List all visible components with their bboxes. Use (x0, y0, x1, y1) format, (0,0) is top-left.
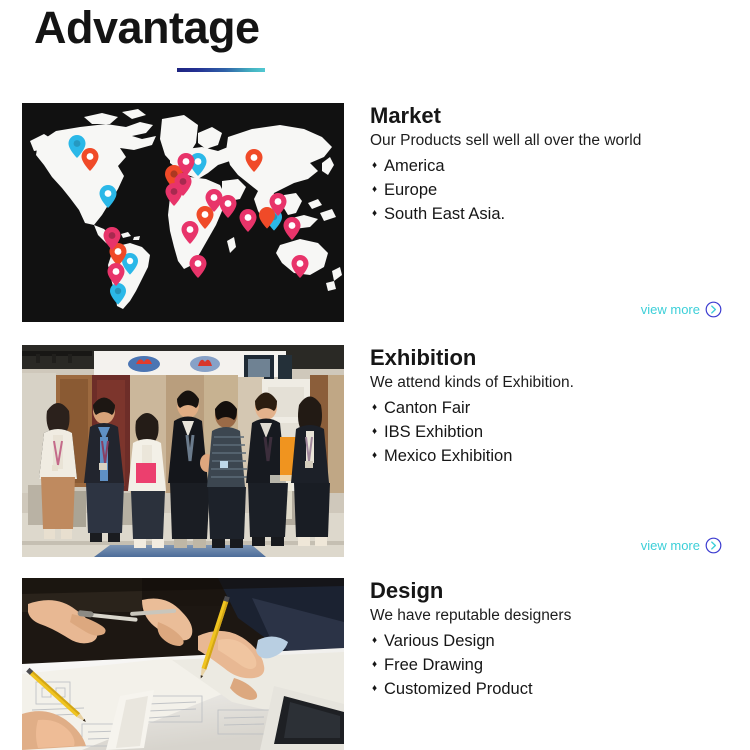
trade-show-photo-svg (22, 345, 344, 557)
diamond-bullet-icon: ♦ (372, 677, 377, 701)
world-map-svg (22, 103, 344, 322)
diamond-bullet-icon: ♦ (372, 154, 377, 178)
list-item-label: Mexico Exhibition (384, 447, 512, 465)
trade-show-photo-graphic (22, 345, 344, 557)
list-item-label: IBS Exhibtion (384, 423, 483, 441)
design-title: Design (370, 578, 750, 603)
market-image (22, 103, 344, 322)
diamond-bullet-icon: ♦ (372, 629, 377, 653)
diamond-bullet-icon: ♦ (372, 202, 377, 226)
exhibition-subtitle: We attend kinds of Exhibition. (370, 372, 750, 394)
list-item: ♦Free Drawing (370, 653, 750, 677)
diamond-bullet-icon: ♦ (372, 444, 377, 468)
chevron-right-circle-icon (705, 537, 722, 554)
market-title: Market (370, 103, 750, 128)
diamond-bullet-icon: ♦ (372, 653, 377, 677)
list-item-label: South East Asia. (384, 205, 505, 223)
page-header: Advantage (0, 0, 750, 100)
list-item-label: Free Drawing (384, 656, 483, 674)
exhibition-bullet-list: ♦Canton Fair ♦IBS Exhibtion ♦Mexico Exhi… (370, 396, 750, 469)
design-subtitle: We have reputable designers (370, 605, 750, 627)
design-content: Design We have reputable designers ♦Vari… (370, 578, 750, 702)
list-item: ♦Europe (370, 178, 750, 202)
list-item: ♦Customized Product (370, 677, 750, 701)
list-item-label: Customized Product (384, 680, 533, 698)
exhibition-title: Exhibition (370, 345, 750, 370)
advantage-row-market: Market Our Products sell well all over t… (0, 103, 750, 345)
design-meeting-photo-graphic (22, 578, 344, 750)
diamond-bullet-icon: ♦ (372, 420, 377, 444)
design-image (22, 578, 344, 750)
market-content: Market Our Products sell well all over t… (370, 103, 750, 227)
list-item: ♦IBS Exhibtion (370, 420, 750, 444)
view-more-label: view more (641, 302, 700, 317)
list-item-label: Various Design (384, 632, 495, 650)
exhibition-image (22, 345, 344, 557)
view-more-link-market[interactable]: view more (641, 301, 722, 318)
world-map-graphic (22, 103, 344, 322)
list-item: ♦America (370, 154, 750, 178)
market-bullet-list: ♦America ♦Europe ♦South East Asia. (370, 154, 750, 227)
title-gradient-underline (177, 68, 265, 72)
list-item-label: Europe (384, 181, 437, 199)
list-item-label: America (384, 157, 445, 175)
diamond-bullet-icon: ♦ (372, 396, 377, 420)
view-more-label: view more (641, 538, 700, 553)
list-item-label: Canton Fair (384, 399, 470, 417)
chevron-right-circle-icon (705, 301, 722, 318)
design-bullet-list: ♦Various Design ♦Free Drawing ♦Customize… (370, 629, 750, 702)
view-more-link-exhibition[interactable]: view more (641, 537, 722, 554)
list-item: ♦South East Asia. (370, 202, 750, 226)
list-item: ♦Mexico Exhibition (370, 444, 750, 468)
design-meeting-photo-svg (22, 578, 344, 750)
page-title: Advantage (34, 2, 260, 54)
market-subtitle: Our Products sell well all over the worl… (370, 130, 750, 152)
exhibition-content: Exhibition We attend kinds of Exhibition… (370, 345, 750, 469)
advantage-row-exhibition: Exhibition We attend kinds of Exhibition… (0, 345, 750, 578)
list-item: ♦Various Design (370, 629, 750, 653)
advantage-row-design: Design We have reputable designers ♦Vari… (0, 578, 750, 750)
list-item: ♦Canton Fair (370, 396, 750, 420)
diamond-bullet-icon: ♦ (372, 178, 377, 202)
